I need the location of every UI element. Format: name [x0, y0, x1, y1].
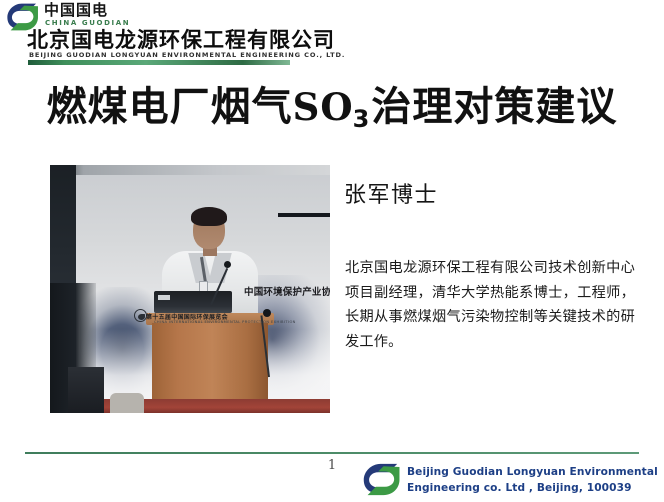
photo-speaker-hair	[191, 207, 227, 226]
title-formula-so: SO	[293, 85, 354, 129]
footer-guodian-diamond-spiral-logo-icon	[363, 463, 401, 496]
speaker-photo: 中国环境保护产业协会 第十五届中国国际环保展览会 CHINA INTERNATI…	[50, 165, 330, 413]
photo-foreground-chair	[110, 393, 144, 413]
slide-header: 中国国电 CHINA GUODIAN 北京国电龙源环保工程有限公司 BEIJIN…	[0, 0, 664, 70]
title-part-2: 治理对策建议	[371, 84, 617, 130]
page-title: 燃煤电厂烟气SO3治理对策建议	[0, 84, 664, 130]
photo-backdrop-caption: 中国环境保护产业协会	[244, 284, 330, 298]
photo-foreground-dark-block	[68, 367, 104, 413]
header-green-rule	[28, 60, 290, 65]
title-part-1: 燃煤电厂烟气	[47, 84, 293, 130]
photo-microphone-head	[224, 261, 231, 268]
photo-backdrop-bar	[278, 213, 330, 217]
slide-root: 中国国电 CHINA GUODIAN 北京国电龙源环保工程有限公司 BEIJIN…	[0, 0, 664, 502]
title-formula-subscript: 3	[353, 105, 371, 133]
brand-name-en: CHINA GUODIAN	[45, 20, 130, 27]
footer-company-line-1: Beijing Guodian Longyuan Environmental	[407, 465, 658, 481]
speaker-name: 张军博士	[344, 183, 438, 209]
footer-company-text: Beijing Guodian Longyuan Environmental E…	[407, 465, 658, 497]
brand-name-cn: 中国国电	[44, 3, 108, 18]
photo-laptop	[154, 291, 232, 313]
speaker-photo-content: 中国环境保护产业协会 第十五届中国国际环保展览会 CHINA INTERNATI…	[50, 165, 330, 413]
photo-banner-subtext: CHINA INTERNATIONAL ENVIRONMENTAL PROTEC…	[154, 320, 296, 324]
company-name-cn: 北京国电龙源环保工程有限公司	[27, 29, 335, 52]
speaker-bio: 北京国电龙源环保工程有限公司技术创新中心项目副经理，清华大学热能系博士，工程师，…	[345, 256, 635, 355]
photo-ceiling-band	[50, 165, 330, 175]
guodian-diamond-spiral-logo-icon	[6, 3, 40, 31]
photo-floor-mic-head	[263, 309, 271, 317]
footer-green-rule	[25, 452, 639, 454]
footer-company-line-2: Engineering co. Ltd , Beijing, 100039	[407, 481, 658, 497]
company-name-en: BEIJING GUODIAN LONGYUAN ENVIRONMENTAL E…	[29, 52, 345, 59]
